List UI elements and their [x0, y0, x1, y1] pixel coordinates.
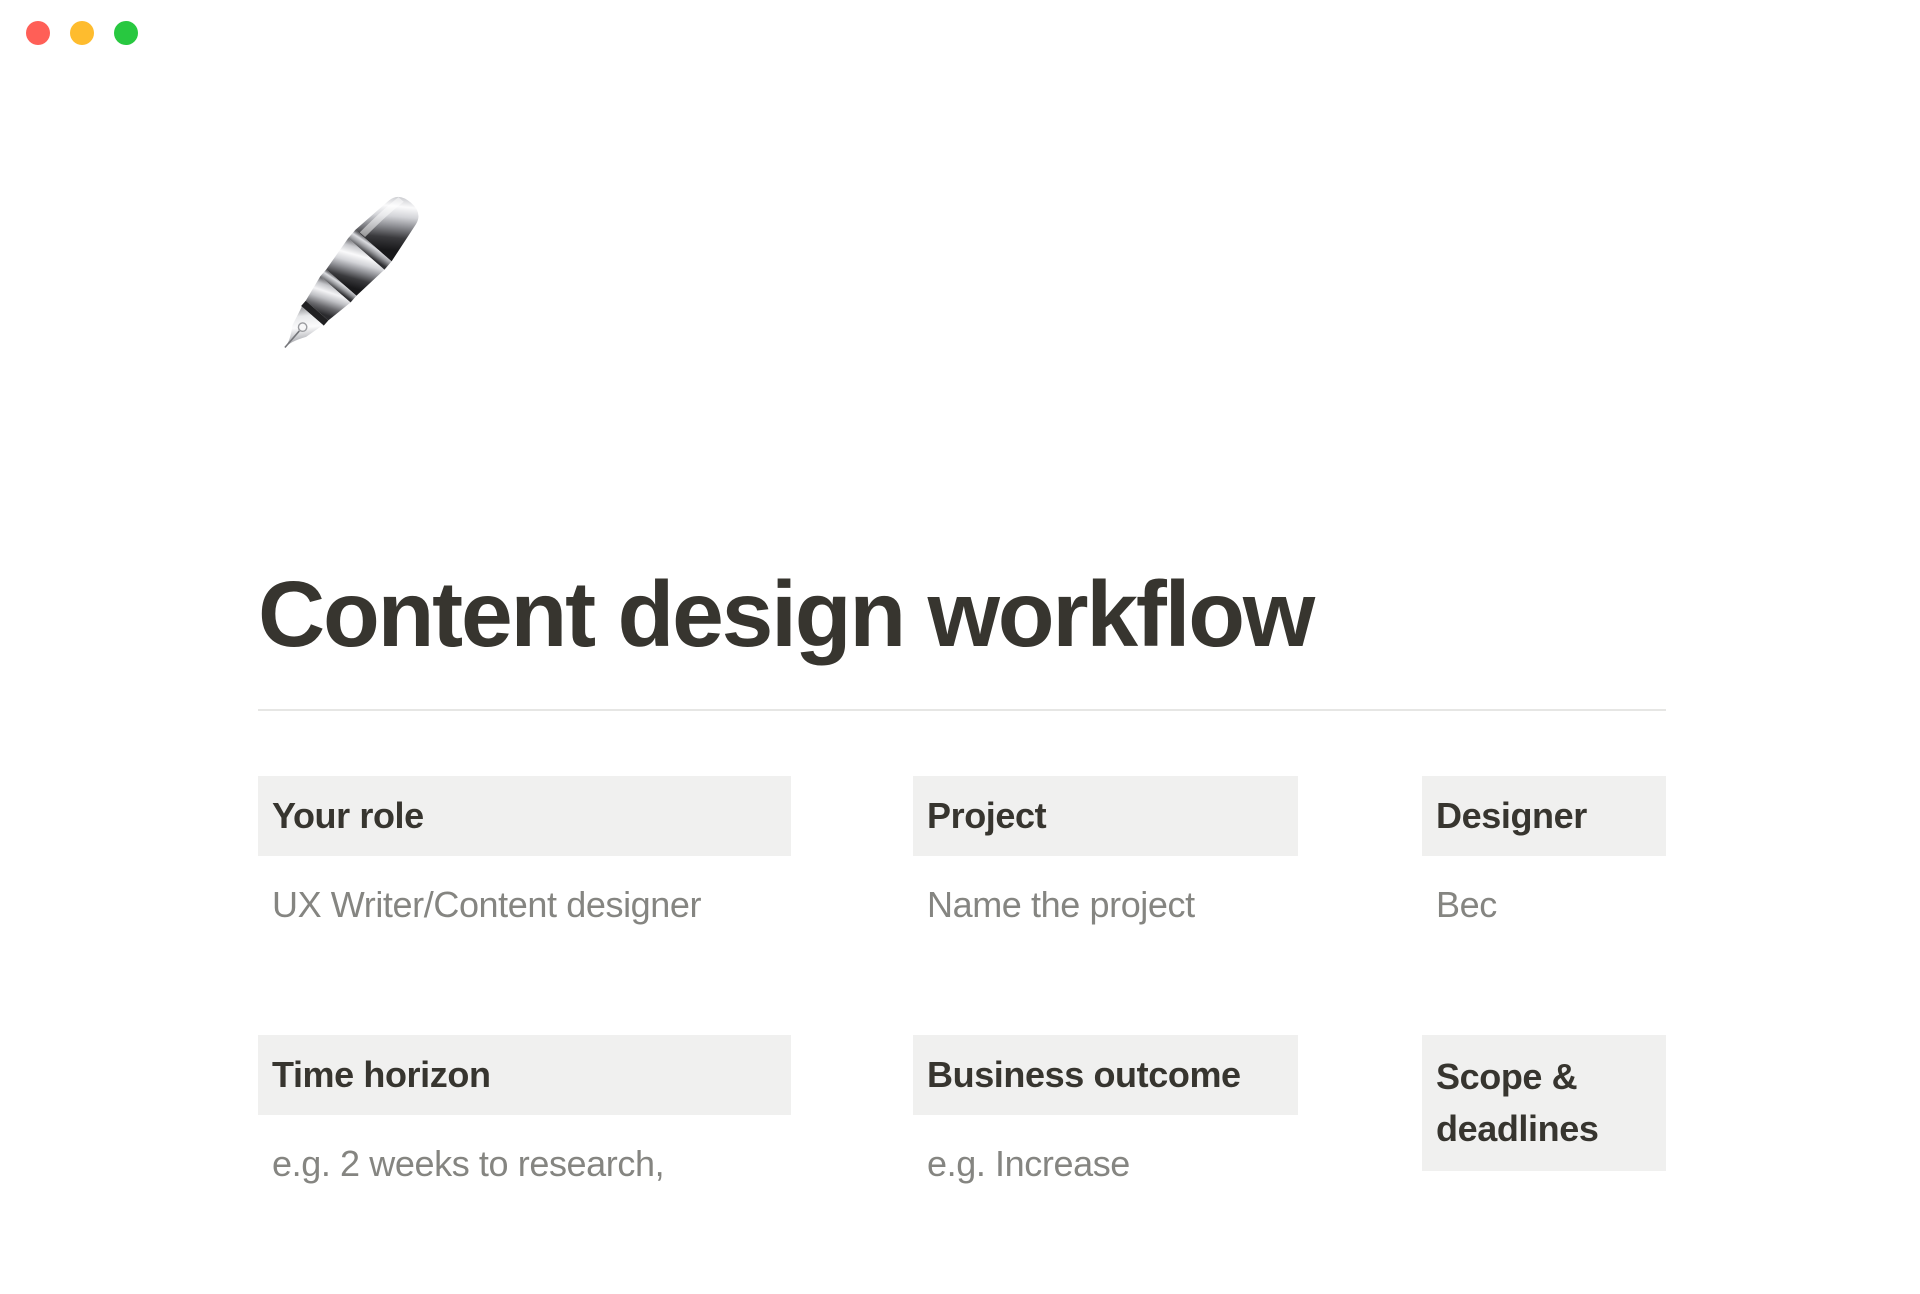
property-value-project[interactable]: Name the project [913, 856, 1298, 929]
property-header-business-outcome[interactable]: Business outcome [913, 1035, 1298, 1115]
property-header-designer[interactable]: Designer [1422, 776, 1666, 856]
property-cell-project: Project Name the project [913, 776, 1298, 929]
property-value-designer[interactable]: Bec [1422, 856, 1666, 929]
property-cell-designer: Designer Bec [1422, 776, 1666, 929]
close-window-button[interactable] [26, 21, 50, 45]
property-header-your-role[interactable]: Your role [258, 776, 791, 856]
property-cell-business-outcome: Business outcome e.g. Increase [913, 1035, 1298, 1188]
maximize-window-button[interactable] [114, 21, 138, 45]
document-canvas: Content design workflow Your role UX Wri… [0, 66, 1920, 1200]
property-header-time-horizon[interactable]: Time horizon [258, 1035, 791, 1115]
page-title[interactable]: Content design workflow [258, 564, 1313, 664]
property-row: Time horizon e.g. 2 weeks to research, B… [258, 1035, 1668, 1294]
property-value-business-outcome[interactable]: e.g. Increase [913, 1115, 1298, 1188]
property-cell-scope-deadlines: Scope & deadlines [1422, 1035, 1666, 1171]
property-grid: Your role UX Writer/Content designer Pro… [258, 776, 1668, 1294]
fountain-pen-icon[interactable] [258, 162, 448, 352]
property-value-your-role[interactable]: UX Writer/Content designer [258, 856, 791, 929]
title-divider [258, 709, 1666, 711]
window-title-bar [0, 0, 1920, 66]
property-value-time-horizon[interactable]: e.g. 2 weeks to research, [258, 1115, 791, 1188]
window-traffic-lights [26, 21, 138, 45]
property-cell-your-role: Your role UX Writer/Content designer [258, 776, 791, 929]
property-row: Your role UX Writer/Content designer Pro… [258, 776, 1668, 1035]
property-header-scope-deadlines[interactable]: Scope & deadlines [1422, 1035, 1666, 1171]
property-header-project[interactable]: Project [913, 776, 1298, 856]
minimize-window-button[interactable] [70, 21, 94, 45]
property-cell-time-horizon: Time horizon e.g. 2 weeks to research, [258, 1035, 791, 1188]
